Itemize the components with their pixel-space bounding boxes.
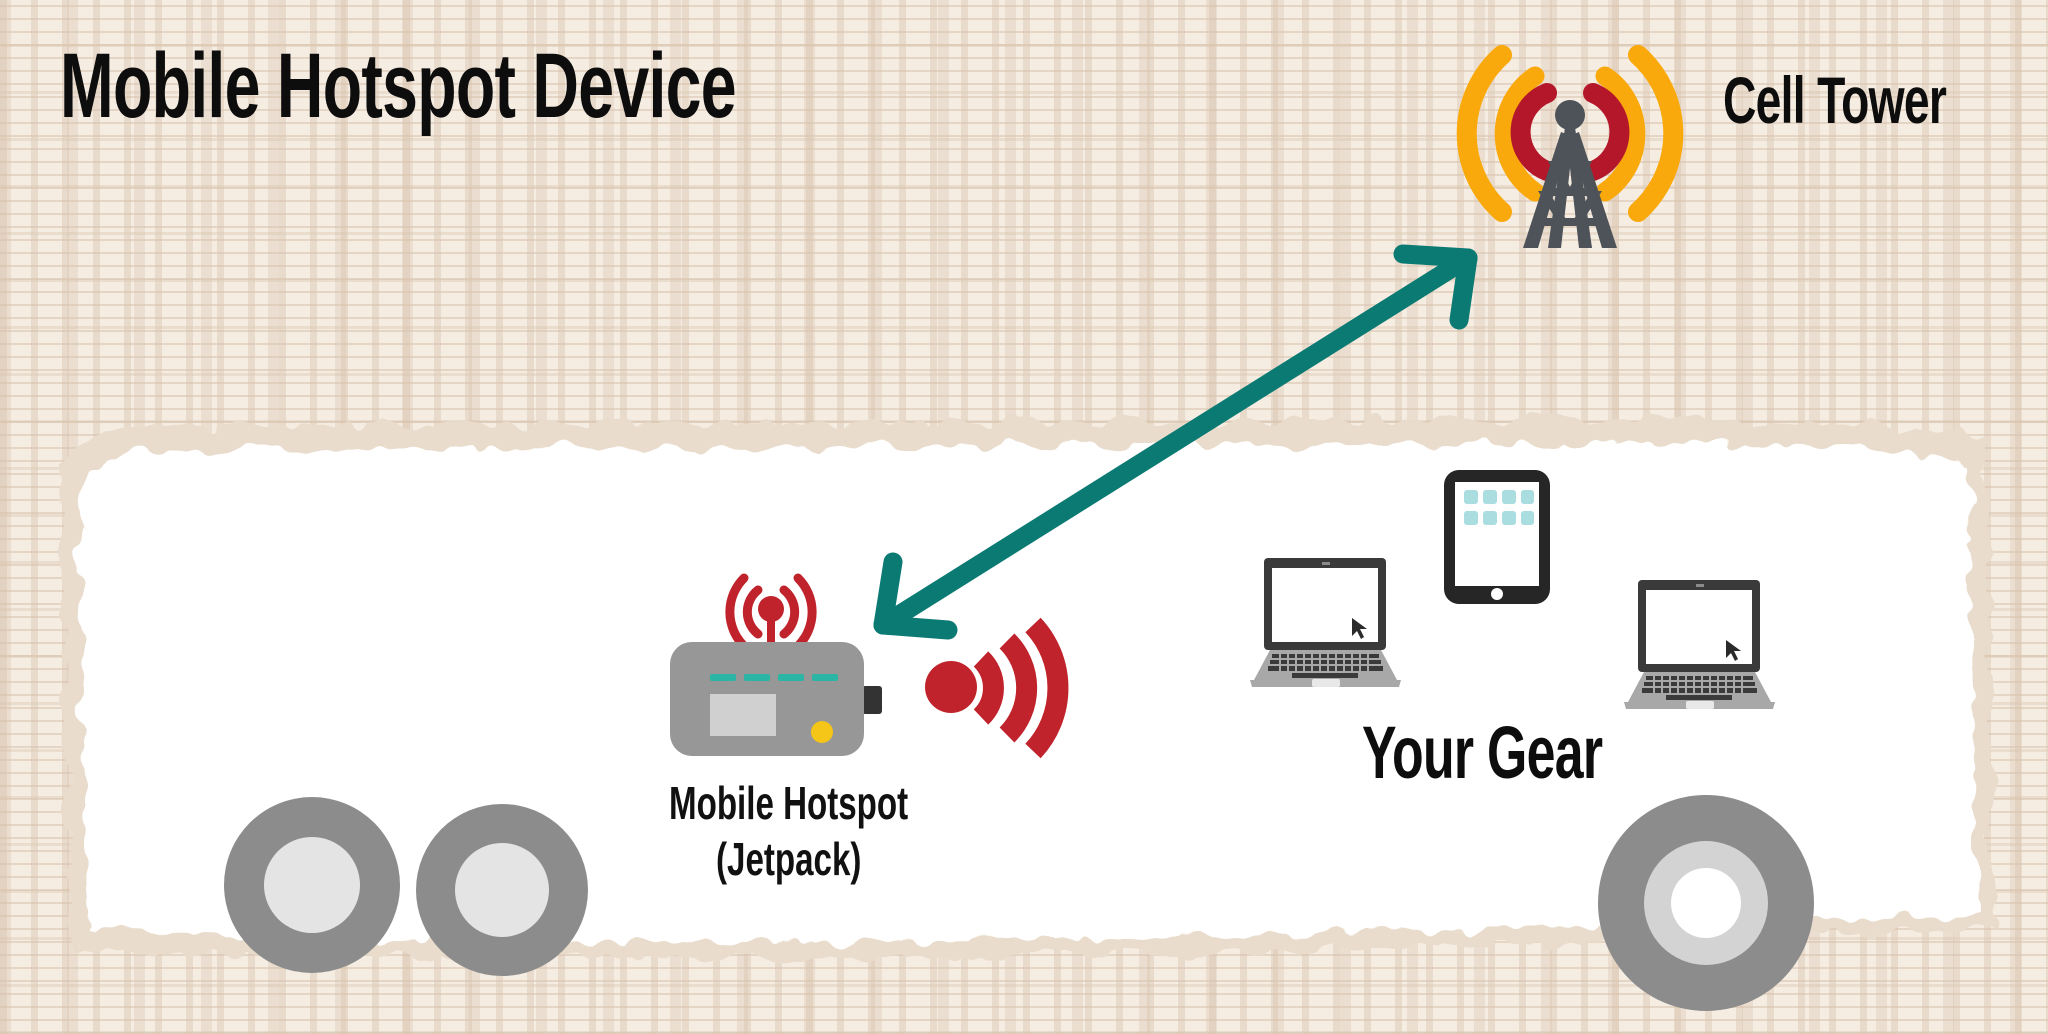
laptop-icon	[1248, 556, 1403, 691]
infographic-canvas: Mobile Hotspot Device	[0, 0, 2048, 1034]
wifi-signal-icon	[925, 615, 1075, 755]
cell-tower-icon	[1440, 20, 1700, 250]
device-screen	[710, 694, 776, 736]
hotspot-label-line1: Mobile Hotspot	[669, 776, 908, 830]
your-gear-label: Your Gear	[1362, 710, 1602, 795]
wheel-icon	[222, 795, 402, 975]
laptop-icon	[1622, 578, 1777, 713]
wheel-icon	[412, 800, 592, 980]
tablet-icon	[1442, 468, 1554, 608]
page-title: Mobile Hotspot Device	[60, 34, 736, 139]
mobile-hotspot-device-icon	[666, 638, 896, 764]
cell-tower-label: Cell Tower	[1723, 62, 1946, 138]
double-headed-arrow-icon	[820, 230, 1520, 660]
wheel-icon	[1596, 793, 1816, 1013]
device-led-indicator	[811, 721, 833, 743]
home-button	[1491, 588, 1503, 600]
hotspot-label-line2: (Jetpack)	[716, 832, 861, 886]
